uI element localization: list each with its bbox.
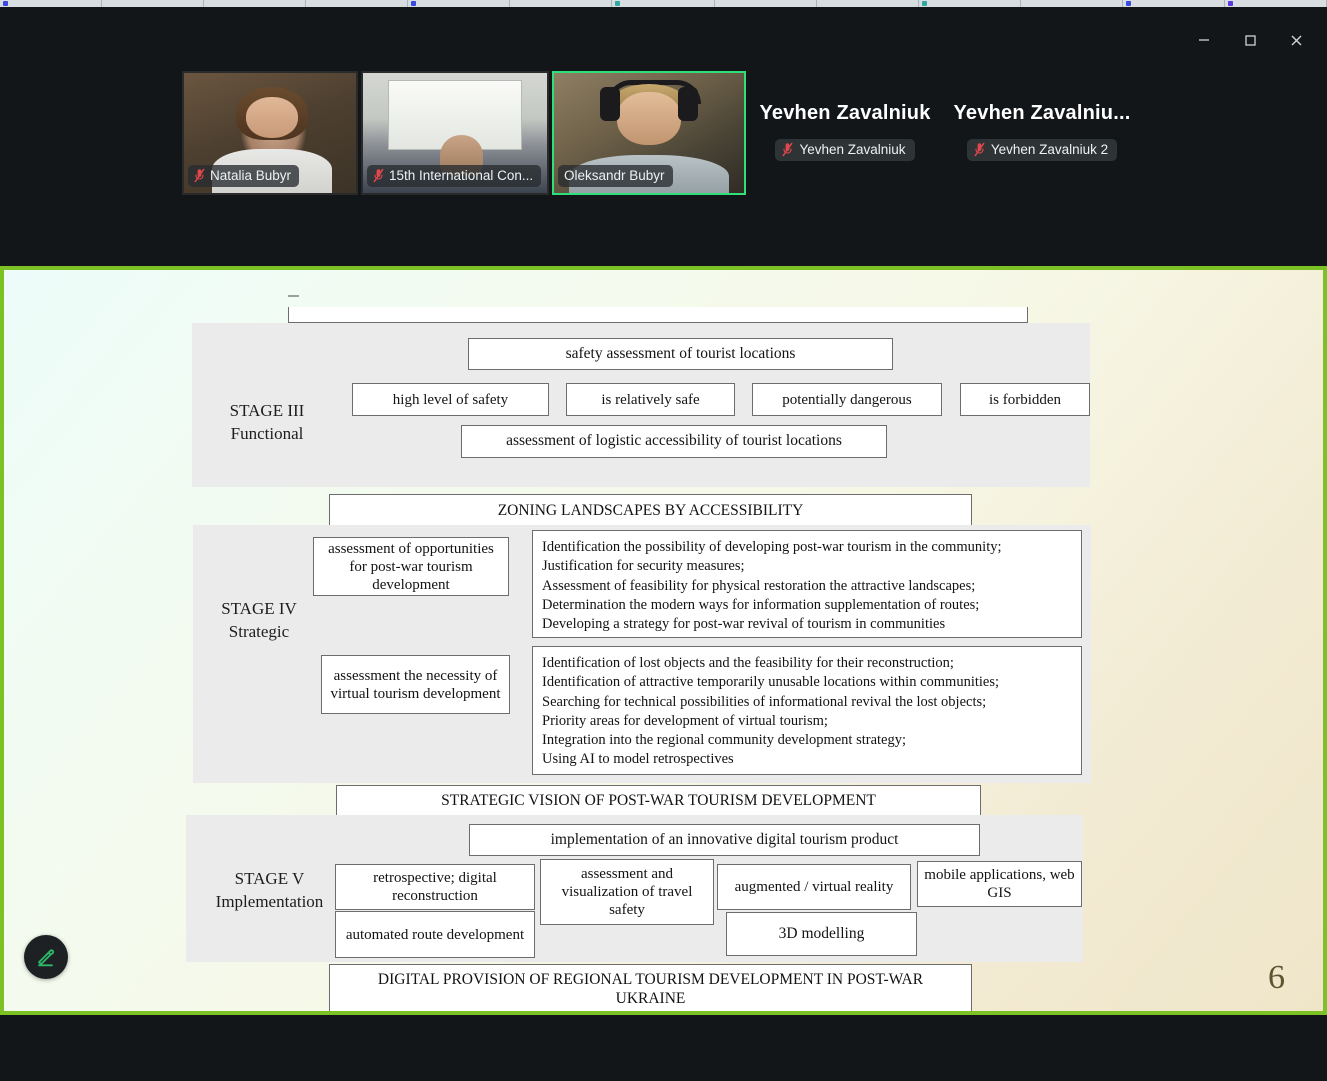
stage-5-label-line1: STAGE V: [202, 868, 337, 891]
participant-tile-oleksandr-bubyr[interactable]: Oleksandr Bubyr: [552, 71, 746, 195]
browser-tab[interactable]: [612, 0, 714, 7]
annotate-button[interactable]: [24, 935, 68, 979]
stage-5-tool-2[interactable]: augmented / virtual reality: [717, 864, 911, 910]
participant-name-badge: Natalia Bubyr: [188, 165, 299, 187]
zoom-meeting-window: Natalia Bubyr 15th International Con...: [0, 7, 1327, 1081]
stage-4-group-a-title[interactable]: assessment of opportunities for post-war…: [313, 537, 509, 596]
browser-tab[interactable]: [715, 0, 817, 7]
list-item: Developing a strategy for post-war reviv…: [542, 615, 945, 634]
shared-screen-slide[interactable]: STAGE III Functional safety assessment o…: [0, 266, 1327, 1015]
stage-4-group-a-list[interactable]: Identification the possibility of develo…: [532, 530, 1082, 638]
slide-content: STAGE III Functional safety assessment o…: [4, 270, 1323, 1011]
stage-4-label: STAGE IV Strategic: [196, 598, 322, 644]
list-item: Justification for security measures;: [542, 557, 745, 576]
stage-5-tool-5[interactable]: 3D modelling: [726, 912, 917, 956]
participant-filmstrip: Natalia Bubyr 15th International Con...: [182, 71, 1140, 193]
stage-4-group-b-list[interactable]: Identification of lost objects and the f…: [532, 646, 1082, 775]
participant-tile-yevhen-zavalniuk-2[interactable]: Yevhen Zavalniu... Yevhen Zavalniuk 2: [944, 71, 1140, 191]
list-item: Using AI to model retrospectives: [542, 750, 734, 769]
clipped-box-above: [288, 307, 1028, 323]
participant-name: Yevhen Zavalniuk: [799, 142, 905, 157]
participant-name-badge: 15th International Con...: [367, 165, 541, 187]
participant-display-name: Yevhen Zavalniuk: [759, 102, 930, 125]
stage-5-header-box[interactable]: implementation of an innovative digital …: [469, 824, 980, 856]
participant-name-badge: Yevhen Zavalniuk: [775, 139, 914, 161]
browser-tab[interactable]: [0, 0, 102, 7]
list-item: Searching for technical possibilities of…: [542, 693, 986, 712]
video-feed-detail: [246, 97, 298, 138]
participant-name: 15th International Con...: [389, 168, 533, 183]
stage-3-footer-box[interactable]: assessment of logistic accessibility of …: [461, 425, 887, 458]
meeting-toolbar-area: [0, 1015, 1327, 1081]
participant-display-name: Yevhen Zavalniu...: [954, 102, 1131, 125]
list-item: Determination the modern ways for inform…: [542, 596, 979, 615]
participant-name-badge: Yevhen Zavalniuk 2: [967, 139, 1117, 161]
stage-3-option-0[interactable]: high level of safety: [352, 383, 549, 416]
mic-muted-icon: [194, 168, 205, 183]
browser-tab[interactable]: [510, 0, 612, 7]
stage-4-label-line2: Strategic: [196, 621, 322, 644]
participant-tile-yevhen-zavalniuk[interactable]: Yevhen Zavalniuk Yevhen Zavalniuk: [749, 71, 941, 191]
stage-5-tool-0[interactable]: retrospective; digital reconstruction: [335, 864, 535, 910]
slide-clipped-marker: [288, 295, 299, 297]
mic-muted-icon: [974, 142, 985, 157]
browser-tab[interactable]: [306, 0, 408, 7]
browser-tab[interactable]: [1021, 0, 1123, 7]
browser-tab[interactable]: [1225, 0, 1327, 7]
stage-5-label: STAGE V Implementation: [202, 868, 337, 914]
stage-3-outcome-banner[interactable]: ZONING LANDSCAPES BY ACCESSIBILITY: [329, 494, 972, 527]
stage-3-header-box[interactable]: safety assessment of tourist locations: [468, 338, 893, 370]
video-feed-detail: [600, 87, 621, 121]
participant-tile-natalia-bubyr[interactable]: Natalia Bubyr: [182, 71, 358, 195]
stage-3-label-line1: STAGE III: [204, 400, 330, 423]
stage-3-label-line2: Functional: [204, 423, 330, 446]
list-item: Assessment of feasibility for physical r…: [542, 577, 975, 596]
stage-4-outcome-banner[interactable]: STRATEGIC VISION OF POST-WAR TOURISM DEV…: [336, 785, 981, 817]
list-item: Identification of attractive temporarily…: [542, 673, 999, 692]
video-feed-detail: [617, 92, 682, 145]
window-controls: [1181, 21, 1319, 59]
list-item: Priority areas for development of virtua…: [542, 712, 828, 731]
stage-5-tool-3[interactable]: mobile applications, web GIS: [917, 861, 1082, 907]
participant-tile-conference-room[interactable]: 15th International Con...: [361, 71, 549, 195]
mic-muted-icon: [373, 168, 384, 183]
maximize-button[interactable]: [1227, 21, 1273, 59]
participant-name: Oleksandr Bubyr: [564, 168, 665, 183]
slide-page-number: 6: [1268, 959, 1285, 997]
stage-5-label-line2: Implementation: [202, 891, 337, 914]
list-item: Identification of lost objects and the f…: [542, 654, 954, 673]
browser-tab[interactable]: [204, 0, 306, 7]
browser-tab[interactable]: [102, 0, 204, 7]
browser-tab[interactable]: [919, 0, 1021, 7]
stage-3-option-3[interactable]: is forbidden: [960, 383, 1090, 416]
window-titlebar: [0, 7, 1327, 69]
list-item: Integration into the regional community …: [542, 731, 906, 750]
stage-5-tool-4[interactable]: automated route development: [335, 911, 535, 958]
close-button[interactable]: [1273, 21, 1319, 59]
list-item: Identification the possibility of develo…: [542, 538, 1002, 557]
participant-name: Yevhen Zavalniuk 2: [991, 142, 1108, 157]
participant-name-badge: Oleksandr Bubyr: [558, 165, 673, 187]
stage-5-outcome-banner[interactable]: DIGITAL PROVISION OF REGIONAL TOURISM DE…: [329, 964, 972, 1014]
stage-5-tool-1[interactable]: assessment and visualization of travel s…: [540, 859, 714, 925]
browser-tab[interactable]: [1123, 0, 1225, 7]
stage-4-label-line1: STAGE IV: [196, 598, 322, 621]
browser-tab[interactable]: [408, 0, 510, 7]
participant-name: Natalia Bubyr: [210, 168, 291, 183]
stage-3-option-2[interactable]: potentially dangerous: [752, 383, 942, 416]
pencil-icon: [34, 945, 58, 969]
browser-tab-strip[interactable]: [0, 0, 1327, 7]
stage-3-label: STAGE III Functional: [204, 400, 330, 446]
stage-3-option-1[interactable]: is relatively safe: [566, 383, 735, 416]
minimize-button[interactable]: [1181, 21, 1227, 59]
stage-4-group-b-title[interactable]: assessment the necessity of virtual tour…: [321, 655, 510, 714]
browser-tab[interactable]: [817, 0, 919, 7]
mic-muted-icon: [782, 142, 793, 157]
video-feed-detail: [678, 87, 699, 121]
